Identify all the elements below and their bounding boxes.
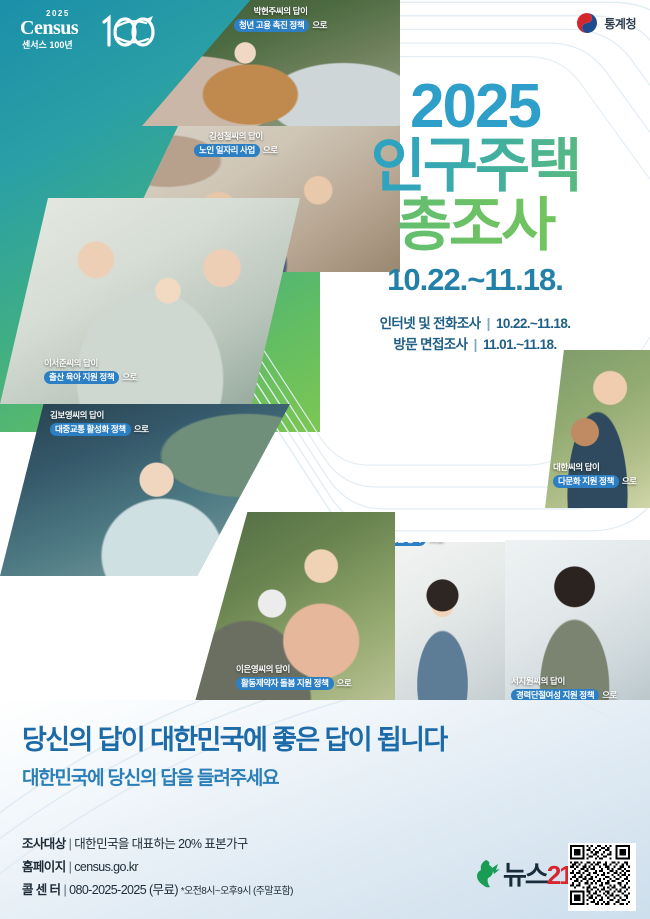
survey-method-row: 인터넷 및 전화조사 | 10.22.~11.18. (300, 314, 650, 335)
census-poster: 박현주씨의 답이 청년 고용 촉진 정책으로 김성철씨의 답이 노인 일자리 사… (0, 0, 650, 919)
method-period: 10.22.~11.18. (496, 316, 570, 331)
method-separator: | (487, 316, 490, 331)
info-bar: | (63, 883, 66, 897)
caption-policy: 활동제약자 돌봄 지원 정책 (236, 677, 334, 691)
method-label: 인터넷 및 전화조사 (380, 316, 481, 331)
census-100-logo: 2025 Census 센서스 100년 (16, 8, 146, 52)
survey-methods: 인터넷 및 전화조사 | 10.22.~11.18. 방문 면접조사 | 11.… (300, 314, 650, 356)
photo-family-baby: 이서준씨의 답이 출산 육아 지원 정책으로 (0, 198, 300, 404)
info-row-target: 조사대상|대한민국을 대표하는 20% 표본가구 (22, 833, 293, 856)
survey-method-row: 방문 면접조사 | 11.01.~11.18. (300, 335, 650, 356)
method-separator: | (474, 337, 477, 352)
caption-policy: 대중교통 활성화 정책 (50, 423, 131, 437)
photo-career-woman: 서지원씨의 답이 경력단절여성 지원 정책으로 (505, 540, 650, 720)
info-bar: | (69, 860, 72, 874)
title-line-2: 총조사 (300, 196, 650, 255)
info-label: 콜 센 터 (22, 883, 60, 897)
caption-suffix: 으로 (122, 372, 137, 383)
caption-suffix: 으로 (429, 542, 444, 545)
title-date-range: 10.22.~11.18. (300, 262, 650, 298)
caption-person: 박현주씨의 답이 (234, 6, 327, 17)
title-block: 2025 인구주택 총조사 10.22.~11.18. 인터넷 및 전화조사 |… (300, 78, 650, 356)
photo-caption: 서지원씨의 답이 경력단절여성 지원 정책으로 (511, 676, 617, 702)
korea-map-icon (474, 859, 500, 889)
taegeuk-icon (576, 12, 598, 34)
photo-image (375, 542, 510, 720)
slogan-block: 당신의 답이 대한민국에 좋은 답이 됩니다 대한민국에 당신의 답을 들려주세… (22, 725, 447, 790)
news-logo-text: 뉴스21 (503, 855, 572, 892)
title-year: 2025 (300, 78, 650, 137)
caption-suffix: 으로 (134, 424, 149, 435)
photo-caption: 이은영씨의 답이 활동제약자 돌봄 지원 정책으로 (236, 664, 351, 690)
info-row-callcenter: 콜 센 터|080-2025-2025 (무료) *오전8시~오후9시 (주말포… (22, 879, 293, 902)
caption-suffix: 으로 (263, 145, 278, 156)
info-bar: | (69, 837, 72, 851)
info-label: 홈페이지 (22, 860, 66, 874)
slogan-main: 당신의 답이 대한민국에 좋은 답이 됩니다 (22, 725, 447, 756)
caption-person: 김성철씨의 답이 (194, 131, 278, 142)
caption-policy: 노인 일자리 사업 (194, 144, 260, 158)
photo-caption: 김성철씨의 답이 노인 일자리 사업으로 (194, 131, 278, 157)
slogan-sub: 대한민국에 당신의 답을 들려주세요 (22, 763, 447, 790)
info-value: 대한민국을 대표하는 20% 표본가구 (74, 837, 248, 851)
info-value[interactable]: census.go.kr (74, 860, 138, 874)
census-logo-word: Census (20, 17, 78, 40)
method-label: 방문 면접조사 (393, 337, 467, 352)
caption-suffix: 으로 (312, 20, 327, 31)
info-block: 조사대상|대한민국을 대표하는 20% 표본가구 홈페이지|census.go.… (22, 833, 293, 902)
caption-person: 대한씨의 답이 (553, 462, 637, 473)
info-note: *오전8시~오후9시 (주말포함) (181, 886, 293, 897)
caption-policy: 다문화 지원 정책 (553, 475, 619, 489)
info-label: 조사대상 (22, 837, 66, 851)
census-logo-korean: 센서스 100년 (22, 38, 73, 51)
qr-code[interactable] (568, 843, 636, 911)
news-outlet-logo: 뉴스21 (474, 855, 572, 892)
photo-caption: 김보영씨의 답이 대중교통 활성화 정책으로 (50, 410, 149, 436)
photo-caption: 대한씨의 답이 다문화 지원 정책으로 (553, 462, 637, 488)
method-period: 11.01.~11.18. (483, 337, 557, 352)
caption-person: 이은영씨의 답이 (236, 664, 351, 675)
title-line-1: 인구주택 (300, 137, 650, 196)
caption-policy: 청년 고용 촉진 정책 (234, 19, 309, 33)
photo-single-household-man: 김유빈씨의 답이 1인가구 주거 지원 정책으로 (375, 542, 510, 720)
info-value: 080-2025-2025 (무료) (69, 883, 178, 897)
photo-caption: 박현주씨의 답이 청년 고용 촉진 정책으로 (234, 6, 327, 32)
caption-person: 김보영씨의 답이 (50, 410, 149, 421)
caption-suffix: 으로 (622, 476, 637, 487)
news-logo-word: 뉴스 (503, 860, 547, 890)
caption-person: 이서준씨의 답이 (44, 358, 137, 369)
photo-caregiver-wheelchair: 이은영씨의 답이 활동제약자 돌봄 지원 정책으로 (190, 512, 395, 720)
caption-suffix: 으로 (337, 678, 352, 689)
photo-caption: 이서준씨의 답이 출산 육아 지원 정책으로 (44, 358, 137, 384)
caption-person: 서지원씨의 답이 (511, 676, 617, 687)
statistics-korea-label: 통계청 (604, 15, 636, 32)
statistics-korea-logo: 통계청 (576, 10, 636, 36)
caption-policy: 출산 육아 지원 정책 (44, 371, 119, 385)
info-row-website[interactable]: 홈페이지|census.go.kr (22, 856, 293, 879)
